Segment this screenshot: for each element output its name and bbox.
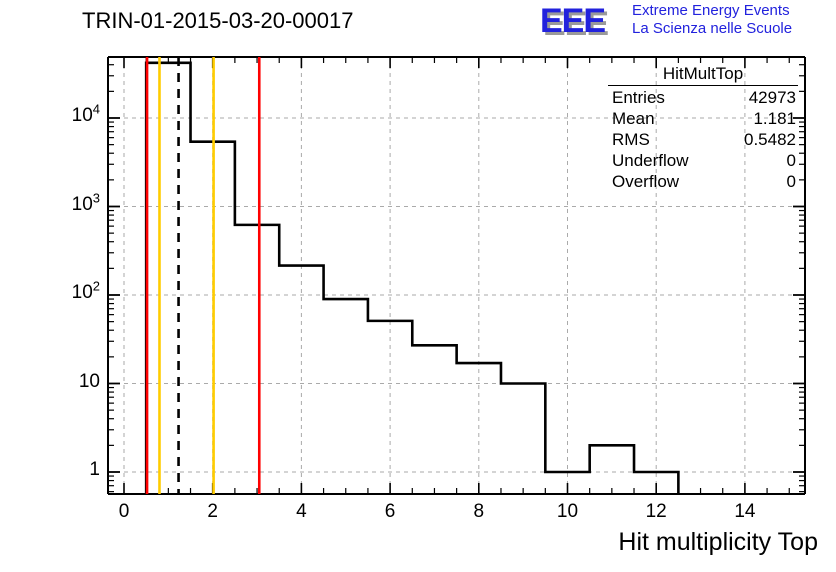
x-tick-label: 8 — [454, 501, 504, 523]
x-tick-label: 4 — [276, 501, 326, 523]
stats-key: RMS — [612, 129, 650, 150]
x-axis-title: Hit multiplicity Top — [618, 528, 818, 557]
x-tick-label: 14 — [720, 501, 770, 523]
stats-title: HitMultTop — [608, 64, 798, 86]
x-tick-label: 12 — [631, 501, 681, 523]
stats-key: Mean — [612, 108, 655, 129]
x-tick-label: 2 — [188, 501, 238, 523]
stats-value: 0.5482 — [744, 129, 796, 150]
plot-canvas: TRIN-01-2015-03-20-00017 EEE Extreme Ene… — [0, 0, 836, 572]
x-tick-label: 6 — [365, 501, 415, 523]
stats-row: Underflow0 — [608, 150, 798, 171]
y-tick-label: 103 — [40, 194, 100, 216]
stats-key: Overflow — [612, 171, 679, 192]
stats-key: Underflow — [612, 150, 689, 171]
stats-value: 42973 — [749, 87, 796, 108]
stats-key: Entries — [612, 87, 665, 108]
stats-row: Entries42973 — [608, 87, 798, 108]
histogram-outline — [146, 63, 678, 494]
stats-rows: Entries42973Mean1.181RMS0.5482Underflow0… — [608, 87, 798, 192]
y-tick-label: 1 — [40, 459, 100, 481]
stats-box: HitMultTop Entries42973Mean1.181RMS0.548… — [608, 64, 798, 192]
y-tick-label: 102 — [40, 282, 100, 304]
stats-row: Mean1.181 — [608, 108, 798, 129]
stats-row: Overflow0 — [608, 171, 798, 192]
y-tick-label: 104 — [40, 105, 100, 127]
x-tick-label: 10 — [543, 501, 593, 523]
stats-value: 0 — [787, 150, 796, 171]
y-tick-label: 10 — [40, 371, 100, 393]
x-tick-label: 0 — [99, 501, 149, 523]
stats-value: 1.181 — [753, 108, 796, 129]
stats-row: RMS0.5482 — [608, 129, 798, 150]
stats-value: 0 — [787, 171, 796, 192]
